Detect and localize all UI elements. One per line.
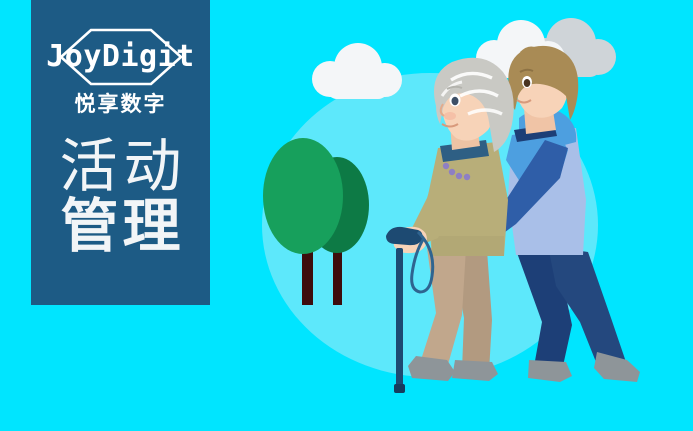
cane-tip xyxy=(394,384,405,393)
poster-canvas: JoyDigit 悦享数字 活动 管理 flat illustration of… xyxy=(0,0,693,431)
page-title-line-2: 管理 xyxy=(56,197,184,257)
page-title: 活动 管理 xyxy=(53,137,187,258)
logo-wordmark: JoyDigit xyxy=(46,42,195,72)
brand-panel: JoyDigit 悦享数字 活动 管理 xyxy=(31,0,210,305)
logo-subtitle: 悦享数字 xyxy=(75,94,167,115)
young-man-back-shoe xyxy=(528,360,572,382)
elderly-eye xyxy=(452,97,459,106)
cane-shaft xyxy=(396,248,403,390)
elderly-back-shoe xyxy=(452,360,498,381)
page-title-line-1: 活动 xyxy=(53,137,187,197)
logo-lockup: JoyDigit xyxy=(53,26,189,88)
young-man-eye xyxy=(524,79,531,87)
elderly-cheek xyxy=(444,112,456,120)
